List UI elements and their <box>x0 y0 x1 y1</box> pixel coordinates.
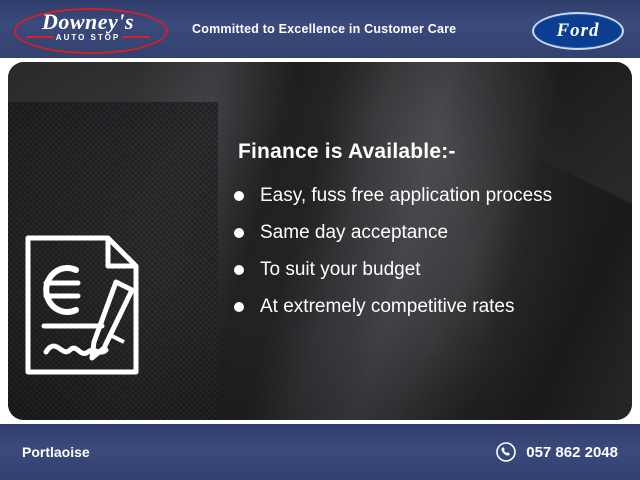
logo-name: Downey's <box>0 9 176 35</box>
list-item: Easy, fuss free application process <box>230 186 630 205</box>
footer-phone-number: 057 862 2048 <box>526 444 618 461</box>
advert-page: Downey's AUTO STOP Committed to Excellen… <box>0 0 640 480</box>
footer-bar: Portlaoise 057 862 2048 <box>0 424 640 480</box>
bullet-dot-icon <box>234 228 244 238</box>
header-bar: Downey's AUTO STOP Committed to Excellen… <box>0 0 640 58</box>
header-tagline: Committed to Excellence in Customer Care <box>176 22 520 36</box>
ford-badge[interactable]: Ford <box>520 0 640 58</box>
list-item-label: To suit your budget <box>260 259 421 280</box>
finance-panel: Finance is Available:- Easy, fuss free a… <box>8 62 632 420</box>
logo-subtitle: AUTO STOP <box>0 33 176 42</box>
finance-headline: Finance is Available:- <box>238 140 630 164</box>
finance-benefits-list: Easy, fuss free application process Same… <box>230 186 630 316</box>
footer-phone-block[interactable]: 057 862 2048 <box>496 442 640 462</box>
phone-icon <box>496 442 516 462</box>
dealer-logo[interactable]: Downey's AUTO STOP <box>0 0 176 58</box>
footer-location: Portlaoise <box>0 444 496 460</box>
ford-badge-label: Ford <box>556 21 599 42</box>
bullet-dot-icon <box>234 302 244 312</box>
euro-document-pen-icon <box>20 230 160 380</box>
bullet-dot-icon <box>234 191 244 201</box>
list-item: To suit your budget <box>230 260 630 279</box>
list-item-label: Easy, fuss free application process <box>260 185 552 206</box>
list-item: Same day acceptance <box>230 223 630 242</box>
list-item: At extremely competitive rates <box>230 297 630 316</box>
bullet-dot-icon <box>234 265 244 275</box>
list-item-label: At extremely competitive rates <box>260 296 514 317</box>
finance-content: Finance is Available:- Easy, fuss free a… <box>230 140 630 334</box>
ford-oval-shape: Ford <box>532 12 624 50</box>
list-item-label: Same day acceptance <box>260 222 448 243</box>
